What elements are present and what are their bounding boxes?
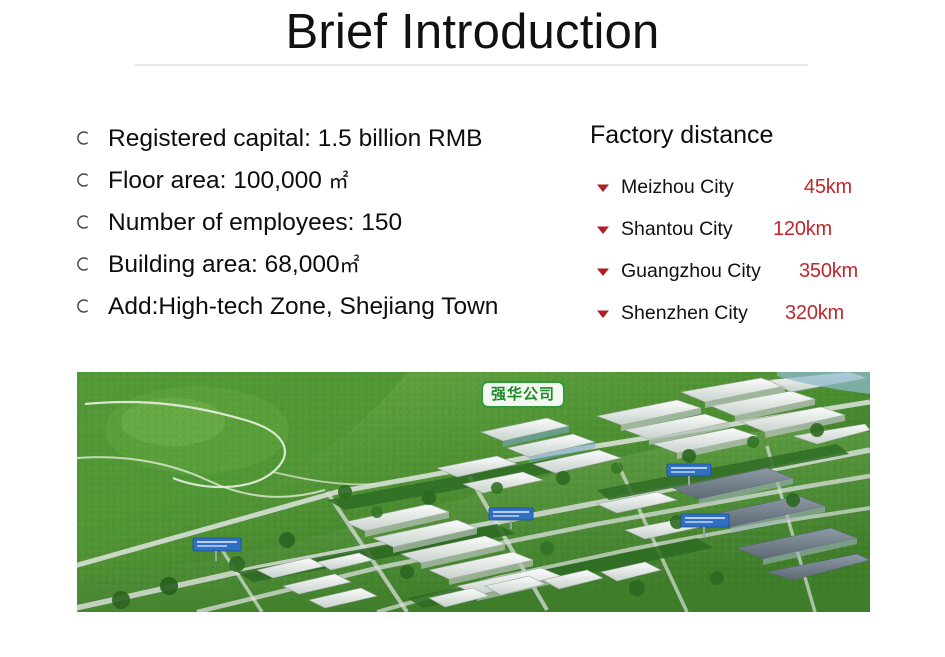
- arc-circle-bullet-icon: [74, 255, 92, 273]
- list-item-label: Floor area: 100,000 ㎡: [108, 166, 349, 196]
- list-item: Building area: 68,000㎡: [74, 244, 574, 286]
- list-item-label: Building area: 68,000㎡: [108, 250, 360, 280]
- distance-row: Shantou City 120km: [590, 208, 940, 250]
- page-title: Brief Introduction: [0, 4, 945, 60]
- list-item: Number of employees: 150: [74, 202, 574, 244]
- factory-distance-panel: Factory distance Meizhou City 45km Shant…: [590, 120, 940, 334]
- distance-city-label: Guangzhou City: [621, 259, 761, 283]
- arc-circle-bullet-icon: [74, 171, 92, 189]
- list-item-label: Number of employees: 150: [108, 208, 402, 238]
- distance-value: 350km: [799, 259, 858, 283]
- aerial-photo-graphic: [77, 372, 870, 612]
- factory-distance-heading: Factory distance: [590, 120, 940, 150]
- list-item-label: Registered capital: 1.5 billion RMB: [108, 124, 483, 154]
- list-item: Add:High-tech Zone, Shejiang Town: [74, 286, 574, 328]
- factory-location-label: 强华公司: [481, 381, 565, 408]
- distance-value: 320km: [785, 301, 844, 325]
- title-divider: [135, 64, 808, 66]
- arc-circle-bullet-icon: [74, 297, 92, 315]
- distance-city-label: Meizhou City: [621, 175, 734, 199]
- triangle-down-bullet-icon: [596, 307, 610, 321]
- list-item: Registered capital: 1.5 billion RMB: [74, 118, 574, 160]
- aerial-photo: 强华公司: [77, 372, 870, 612]
- distance-value: 120km: [773, 217, 832, 241]
- distance-row: Shenzhen City 320km: [590, 292, 940, 334]
- distance-value: 45km: [804, 175, 852, 199]
- introduction-list: Registered capital: 1.5 billion RMB Floo…: [74, 118, 574, 328]
- triangle-down-bullet-icon: [596, 223, 610, 237]
- triangle-down-bullet-icon: [596, 181, 610, 195]
- arc-circle-bullet-icon: [74, 129, 92, 147]
- arc-circle-bullet-icon: [74, 213, 92, 231]
- triangle-down-bullet-icon: [596, 265, 610, 279]
- distance-row: Guangzhou City 350km: [590, 250, 940, 292]
- list-item-label: Add:High-tech Zone, Shejiang Town: [108, 292, 498, 322]
- list-item: Floor area: 100,000 ㎡: [74, 160, 574, 202]
- distance-city-label: Shenzhen City: [621, 301, 748, 325]
- distance-row: Meizhou City 45km: [590, 166, 940, 208]
- distance-city-label: Shantou City: [621, 217, 733, 241]
